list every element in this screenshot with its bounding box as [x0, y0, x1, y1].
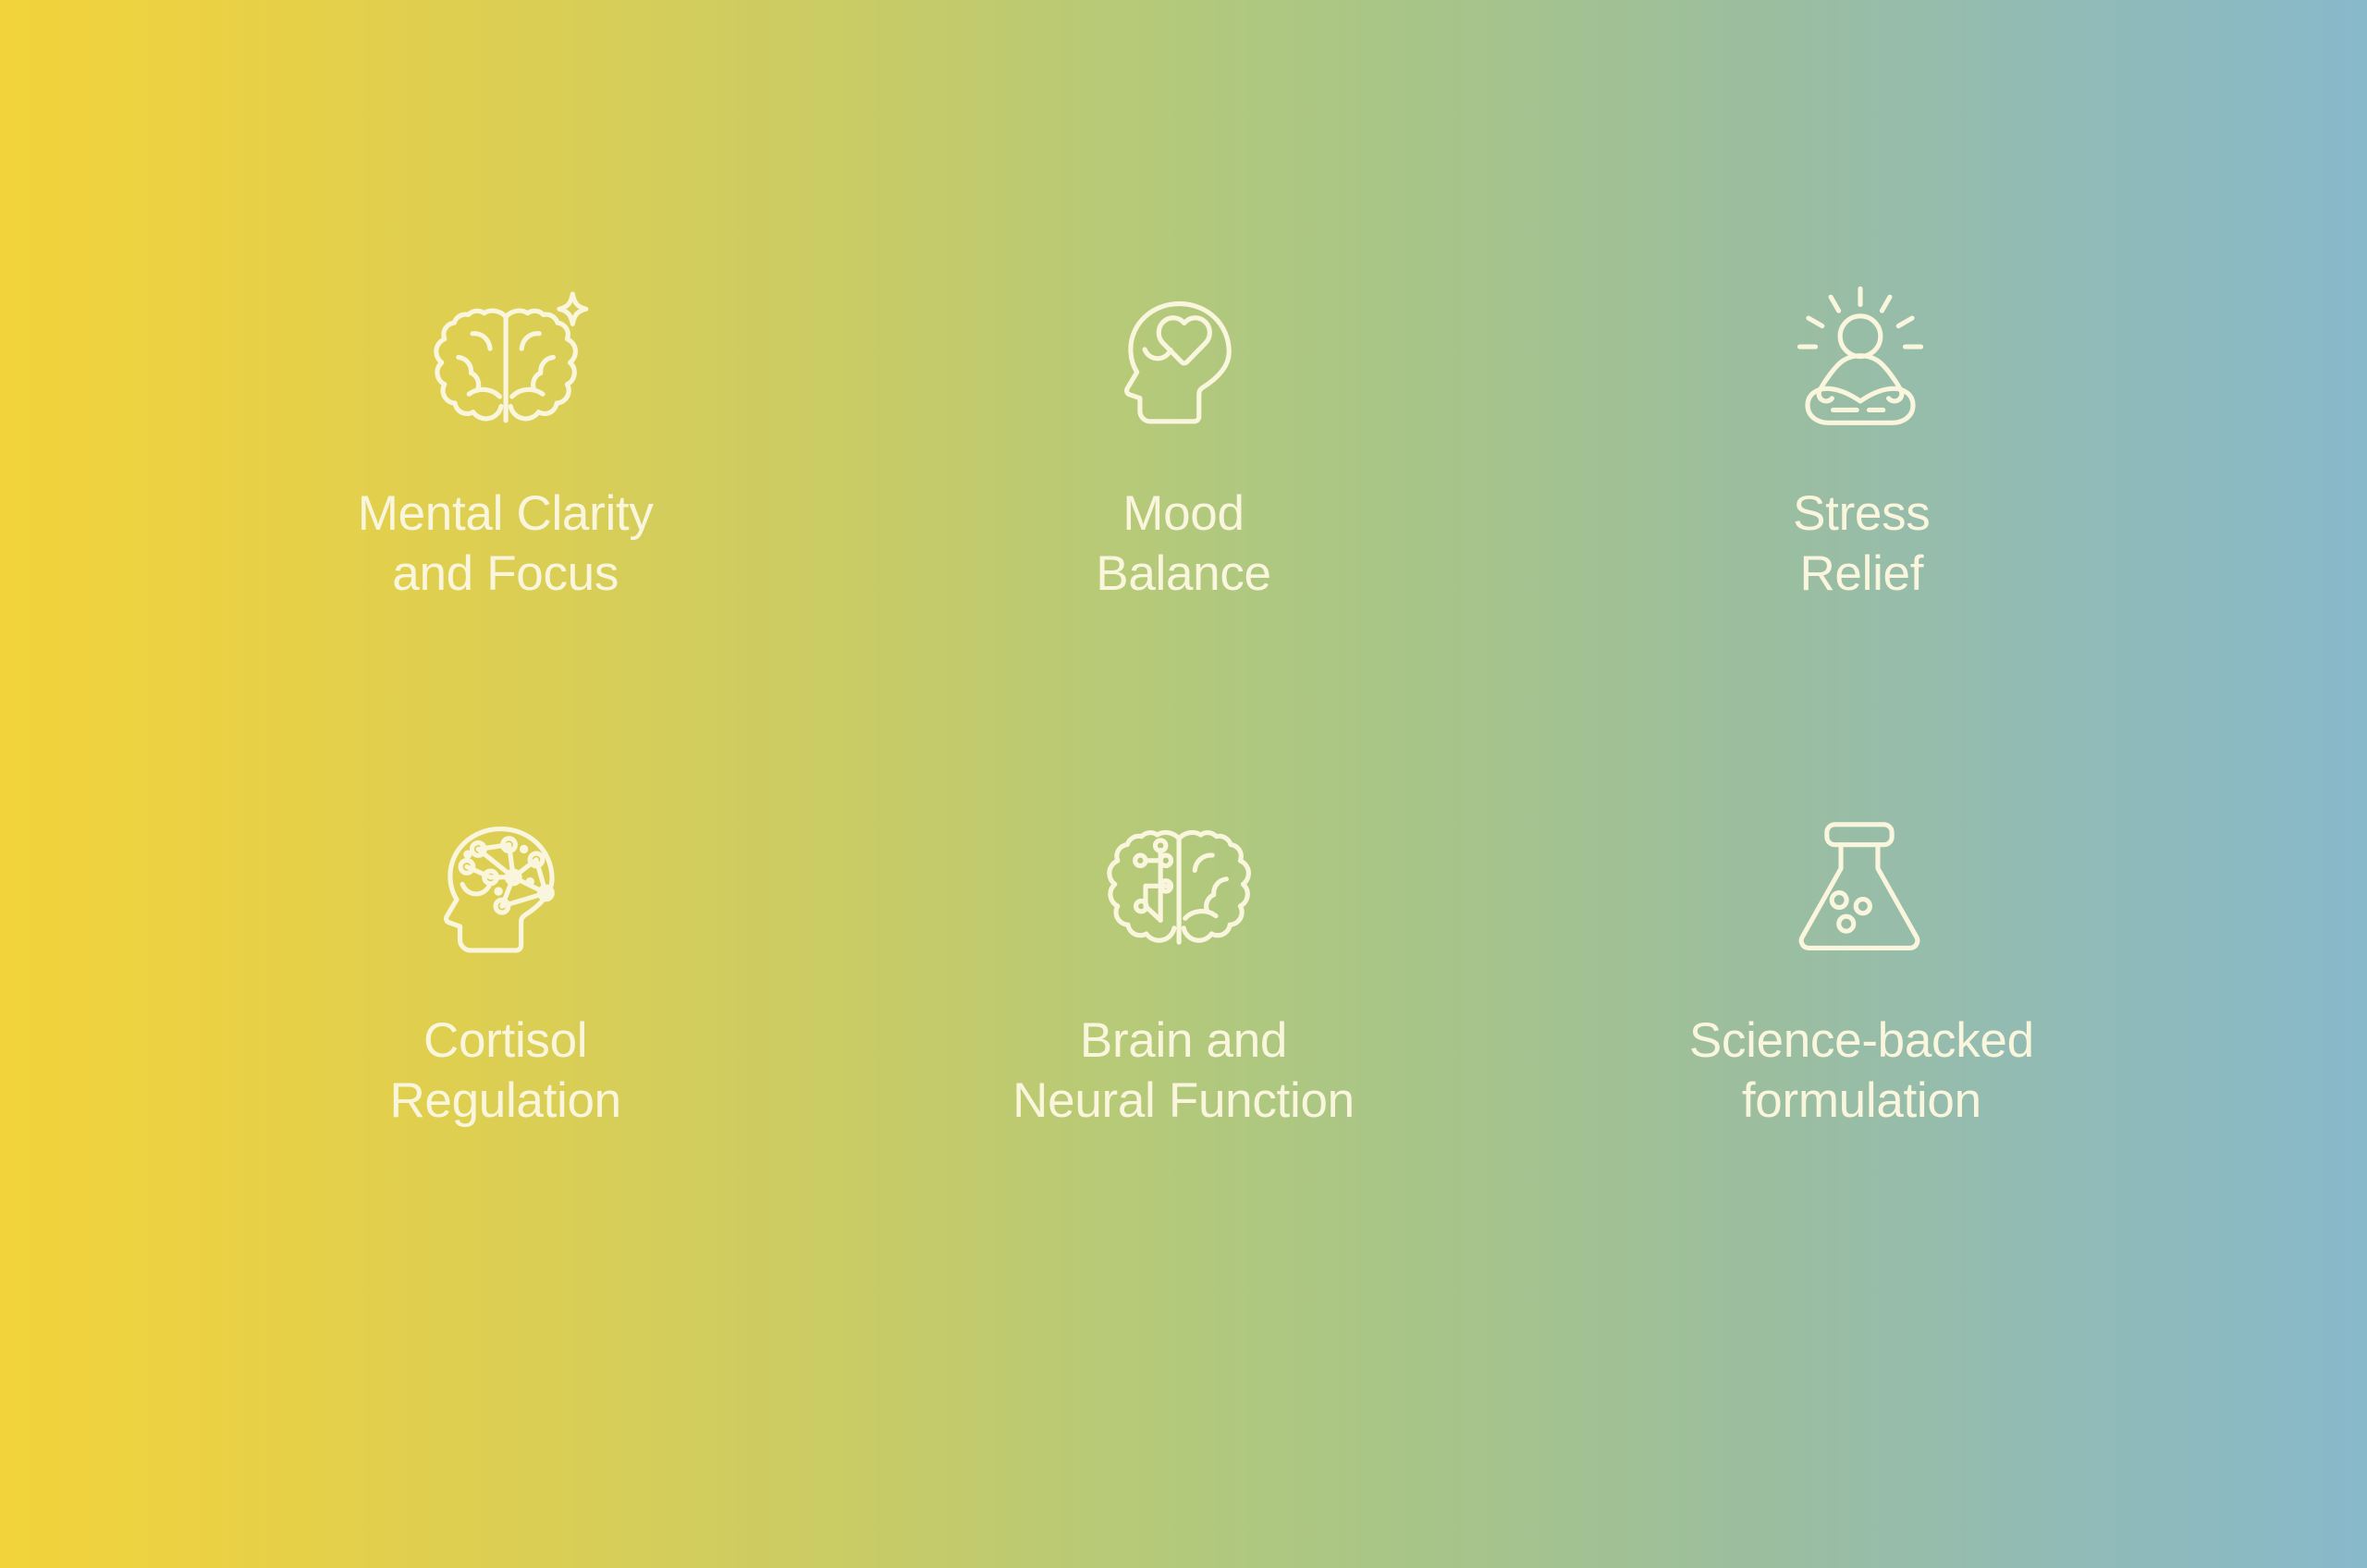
brain-circuit-icon — [1093, 804, 1269, 980]
benefit-item-science-backed-formulation: Science-backed formulation — [1523, 804, 2201, 1291]
benefit-item-mood-balance: Mood Balance — [844, 277, 1522, 784]
benefit-item-stress-relief: Stress Relief — [1523, 277, 2201, 784]
brain-sparkle-icon — [420, 277, 595, 453]
benefit-label: Brain and Neural Function — [1012, 1011, 1355, 1131]
flask-bubbles-icon — [1772, 804, 1947, 980]
benefits-grid: Mental Clarity and Focus Mood Balance — [0, 0, 2367, 1568]
meditation-lotus-icon — [1772, 277, 1948, 453]
benefit-item-brain-and-neural-function: Brain and Neural Function — [844, 804, 1522, 1291]
benefit-label: Mental Clarity and Focus — [358, 484, 654, 604]
benefit-label: Science-backed formulation — [1689, 1011, 2034, 1131]
benefit-label: Mood Balance — [1096, 484, 1270, 604]
head-neural-network-icon — [412, 804, 588, 980]
benefit-item-cortisol-regulation: Cortisol Regulation — [166, 804, 844, 1291]
head-heart-icon — [1093, 277, 1269, 453]
benefit-label: Cortisol Regulation — [389, 1011, 620, 1131]
benefit-item-mental-clarity-and-focus: Mental Clarity and Focus — [166, 277, 844, 784]
benefit-label: Stress Relief — [1793, 484, 1930, 604]
